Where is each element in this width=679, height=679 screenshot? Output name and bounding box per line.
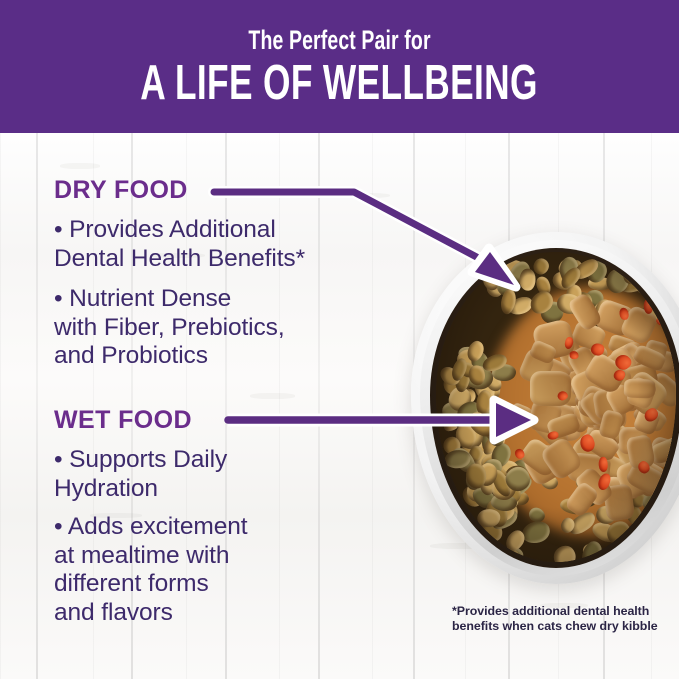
dry-food-bullet-1: • Provides Additional Dental Health Bene… [54,216,384,273]
bullet-line: and Probiotics [54,342,384,371]
wet-food-heading: WET FOOD [54,407,384,433]
dry-food-heading: DRY FOOD [54,177,384,203]
bullet-line: • Provides Additional [54,216,384,245]
bullet-line: different forms [54,570,384,599]
bullet-line: Dental Health Benefits* [54,245,384,274]
footnote: *Provides additional dental health benef… [452,604,674,634]
bullet-line: • Supports Daily [54,446,384,475]
footnote-line-1: *Provides additional dental health [452,604,674,619]
banner-subtitle: The Perfect Pair for [248,25,430,55]
bullet-line: • Adds excitement [54,513,384,542]
bullet-line: with Fiber, Prebiotics, [54,314,384,343]
dry-food-section: DRY FOOD [54,177,384,203]
footnote-line-2: benefits when cats chew dry kibble [452,619,674,634]
bullet-line: at mealtime with [54,542,384,571]
bullet-line: Hydration [54,475,384,504]
wet-food-bullet-1: • Supports Daily Hydration [54,446,384,503]
wet-food-section: WET FOOD [54,407,384,433]
banner-title: A LIFE OF WELLBEING [141,57,539,109]
bullet-line: and flavors [54,599,384,628]
infographic-canvas: The Perfect Pair for A LIFE OF WELLBEING… [0,0,679,679]
dry-food-bullet-2: • Nutrient Dense with Fiber, Prebiotics,… [54,285,384,371]
wet-food-bullet-2: • Adds excitement at mealtime with diffe… [54,513,384,627]
bullet-line: • Nutrient Dense [54,285,384,314]
cat-food-bowl-photo [411,232,679,584]
header-banner: The Perfect Pair for A LIFE OF WELLBEING [0,0,679,133]
